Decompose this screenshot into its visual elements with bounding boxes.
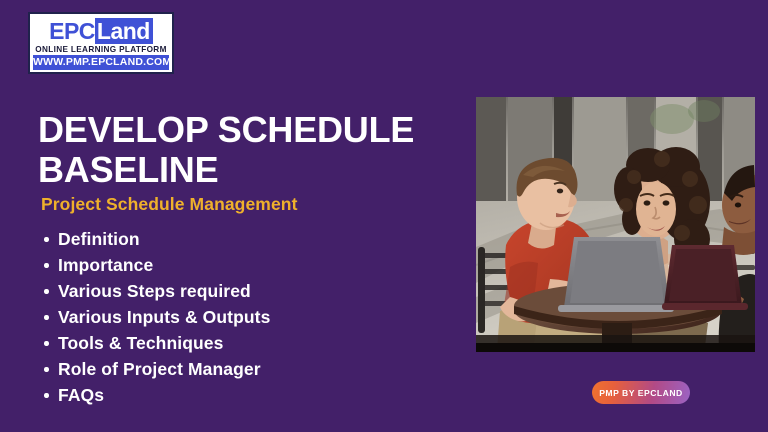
page-title: DEVELOP SCHEDULE BASELINE	[38, 110, 438, 190]
list-item: Tools & Techniques	[43, 330, 270, 356]
list-item-label: Various Inputs & Outputs	[58, 307, 270, 327]
bullet-dot-icon	[44, 237, 49, 242]
topic-list: Definition Importance Various Steps requ…	[43, 226, 270, 408]
logo-wordmark: EPCLand	[33, 18, 169, 44]
bullet-dot-icon	[44, 367, 49, 372]
slide-canvas: EPCLand ONLINE LEARNING PLATFORM WWW.PMP…	[0, 0, 768, 432]
logo-url: WWW.PMP.EPCLAND.COM	[33, 55, 169, 70]
list-item: Various Inputs & Outputs	[43, 304, 270, 330]
people-with-laptops-photo	[476, 97, 755, 352]
bullet-dot-icon	[44, 289, 49, 294]
epcland-logo[interactable]: EPCLand ONLINE LEARNING PLATFORM WWW.PMP…	[28, 12, 174, 74]
bullet-dot-icon	[44, 263, 49, 268]
list-item-label: Definition	[58, 229, 140, 249]
list-item: Role of Project Manager	[43, 356, 270, 382]
bullet-dot-icon	[44, 393, 49, 398]
list-item-label: FAQs	[58, 385, 104, 405]
subtitle: Project Schedule Management	[41, 194, 298, 215]
list-item: Various Steps required	[43, 278, 270, 304]
logo-word-land: Land	[95, 18, 153, 44]
list-item-label: Role of Project Manager	[58, 359, 261, 379]
status-badge-label: PMP BY EPCLAND	[599, 388, 683, 398]
list-item: FAQs	[43, 382, 270, 408]
logo-tagline: ONLINE LEARNING PLATFORM	[33, 44, 169, 55]
logo-word-epc: EPC	[49, 18, 95, 44]
list-item-label: Importance	[58, 255, 153, 275]
list-item: Definition	[43, 226, 270, 252]
status-badge[interactable]: PMP BY EPCLAND	[592, 381, 690, 404]
list-item: Importance	[43, 252, 270, 278]
list-item-label: Tools & Techniques	[58, 333, 223, 353]
bullet-dot-icon	[44, 341, 49, 346]
list-item-label: Various Steps required	[58, 281, 251, 301]
bullet-dot-icon	[44, 315, 49, 320]
